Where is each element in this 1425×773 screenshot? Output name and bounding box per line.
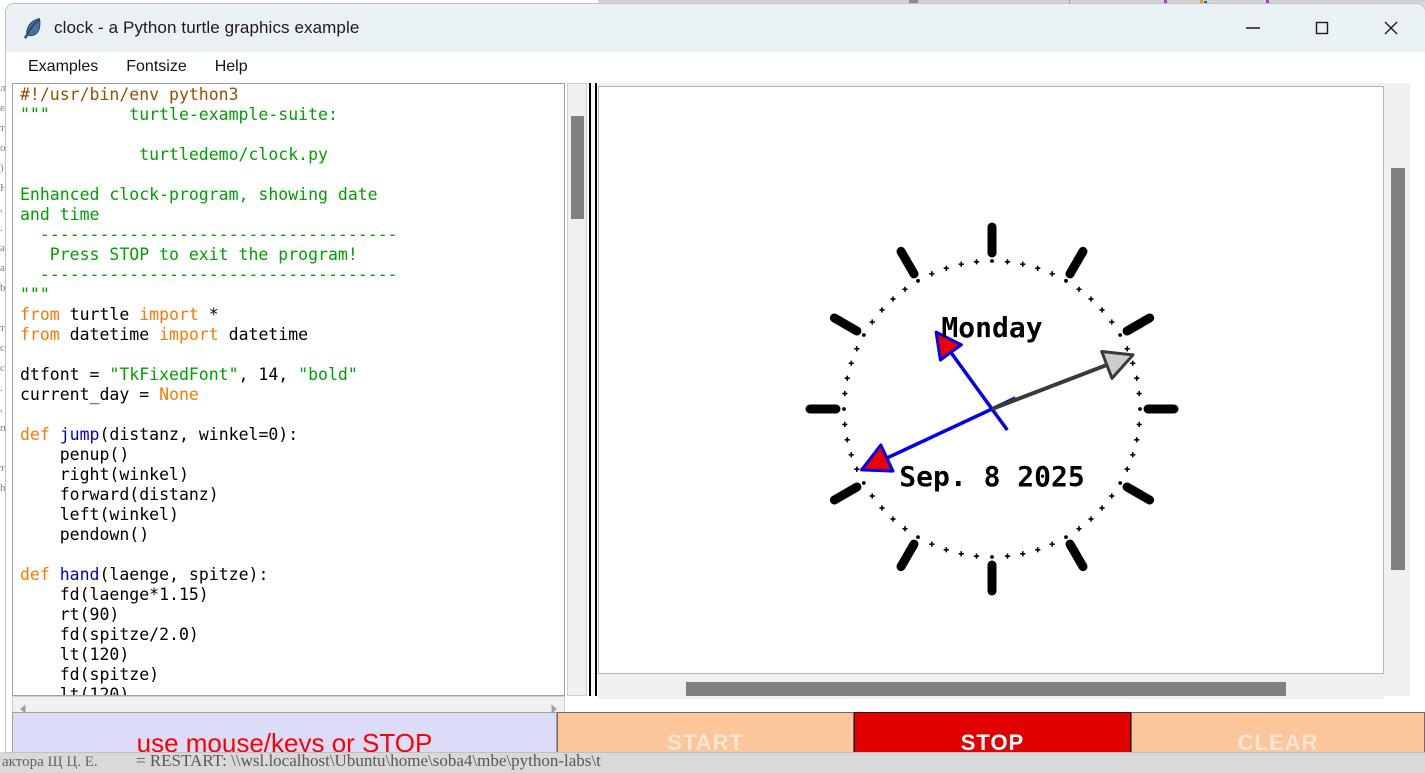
clock-drawing: Monday Sep. 8 2025 (599, 87, 1384, 674)
background-left-label: актора Щ Ц. Е. (2, 754, 98, 771)
code-vertical-scrollbar-thumb[interactable] (571, 116, 584, 219)
window-title: clock - a Python turtle graphics example (54, 18, 359, 38)
background-shell-restart-text: = RESTART: \\wsl.localhost\Ubuntu\home\s… (136, 752, 601, 771)
pane-sash-handle[interactable] (589, 83, 597, 696)
source-code-text[interactable]: #!/usr/bin/env python3 """ turtle-exampl… (20, 85, 564, 696)
status-bar: use mouse/keys or STOP (12, 712, 557, 752)
code-vertical-scrollbar[interactable] (567, 83, 587, 696)
stop-button[interactable]: STOP (854, 712, 1131, 752)
bottom-bar: use mouse/keys or STOP START STOP CLEAR (6, 712, 1425, 752)
clear-button[interactable]: CLEAR (1131, 712, 1425, 752)
menu-item-fontsize[interactable]: Fontsize (116, 56, 196, 78)
clock-weekday-label: Monday (941, 311, 1042, 344)
menu-item-help[interactable]: Help (205, 56, 258, 78)
background-window-bottom-strip: актора Щ Ц. Е. = RESTART: \\wsl.localhos… (0, 752, 1425, 773)
window-controls (1218, 4, 1425, 52)
canvas-vertical-scrollbar-thumb[interactable] (1391, 168, 1405, 570)
clock-hands (862, 332, 1134, 471)
menu-item-examples[interactable]: Examples (18, 56, 108, 78)
clock-date-label: Sep. 8 2025 (899, 460, 1084, 493)
paned-window: #!/usr/bin/env python3 """ turtle-exampl… (6, 83, 1425, 698)
menu-bar: Examples Fontsize Help (6, 52, 1425, 83)
close-icon[interactable] (1356, 4, 1425, 52)
turtle-canvas[interactable]: Monday Sep. 8 2025 (598, 86, 1384, 674)
title-bar: clock - a Python turtle graphics example (6, 4, 1425, 52)
feather-icon (20, 15, 46, 41)
canvas-vertical-scrollbar[interactable] (1388, 86, 1408, 674)
canvas-horizontal-scrollbar[interactable] (598, 679, 1384, 699)
minimize-icon[interactable] (1218, 4, 1287, 52)
canvas-horizontal-scrollbar-thumb[interactable] (686, 682, 1286, 696)
source-code-pane[interactable]: #!/usr/bin/env python3 """ turtle-exampl… (12, 83, 565, 696)
turtledemo-window: clock - a Python turtle graphics example… (6, 4, 1425, 752)
turtle-canvas-pane: Monday Sep. 8 2025 (598, 83, 1410, 696)
maximize-icon[interactable] (1287, 4, 1356, 52)
control-button-row: START STOP CLEAR (557, 712, 1425, 752)
status-message: use mouse/keys or STOP (137, 728, 433, 753)
start-button[interactable]: START (557, 712, 854, 752)
